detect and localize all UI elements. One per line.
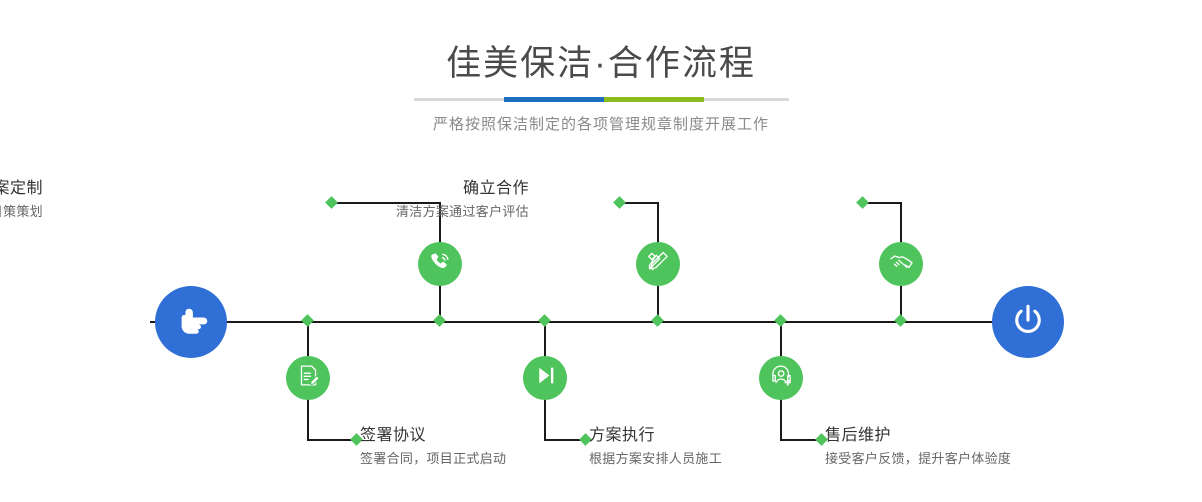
step-title: 确立合作: [396, 178, 529, 200]
headset-support-icon: [769, 363, 794, 393]
page-header: 佳美保洁·合作流程 严格按照保洁制定的各项管理规章制度开展工作: [0, 0, 1202, 134]
step-icon-circle[interactable]: [418, 242, 462, 286]
step-subtitle: 接受客户反馈，提升客户体验度: [825, 449, 1011, 469]
divider-green-segment: [604, 97, 704, 102]
handshake-icon: [889, 249, 914, 279]
timeline-diamond-marker: [433, 314, 446, 327]
flow-start-node: [155, 286, 227, 358]
timeline-diamond-marker: [301, 314, 314, 327]
step-label: 签署协议 签署合同，项目正式启动: [360, 425, 506, 469]
step-icon-circle[interactable]: [286, 356, 330, 400]
timeline-diamond-marker: [651, 314, 664, 327]
step-icon-circle[interactable]: [523, 356, 567, 400]
process-flow-diagram: 电话咨询 阐明基本情况和需求 签署协议 签署合同，项目正式启动: [0, 150, 1202, 502]
step-icon-circle[interactable]: [636, 242, 680, 286]
timeline-diamond-marker: [894, 314, 907, 327]
step-label: 确立合作 清洁方案通过客户评估: [396, 178, 529, 222]
label-diamond-marker: [856, 196, 869, 209]
label-diamond-marker: [325, 196, 338, 209]
step-subtitle: 为客户提供项目策策划: [0, 202, 43, 222]
step-icon-circle[interactable]: [879, 242, 923, 286]
connector-horizontal: [307, 439, 355, 441]
step-subtitle: 根据方案安排人员施工: [589, 449, 722, 469]
document-edit-icon: [296, 363, 321, 393]
timeline-diamond-marker: [538, 314, 551, 327]
flow-end-node: [992, 286, 1064, 358]
page-subtitle: 严格按照保洁制定的各项管理规章制度开展工作: [0, 113, 1202, 134]
step-label: 售后维护 接受客户反馈，提升客户体验度: [825, 425, 1011, 469]
page-title: 佳美保洁·合作流程: [0, 42, 1202, 86]
step-label: 方案执行 根据方案安排人员施工: [589, 425, 722, 469]
title-divider: [414, 98, 789, 101]
phone-ring-icon: [428, 249, 453, 279]
step-label: 方案定制 为客户提供项目策策划: [0, 178, 43, 222]
pointing-hand-icon: [171, 300, 211, 345]
step-title: 售后维护: [825, 425, 1011, 447]
step-subtitle: 签署合同，项目正式启动: [360, 449, 506, 469]
step-title: 方案定制: [0, 178, 43, 200]
pencil-ruler-icon: [646, 249, 671, 279]
timeline-axis: [150, 321, 1052, 323]
label-diamond-marker: [613, 196, 626, 209]
step-subtitle: 清洁方案通过客户评估: [396, 202, 529, 222]
timeline-diamond-marker: [774, 314, 787, 327]
step-title: 方案执行: [589, 425, 722, 447]
divider-blue-segment: [504, 97, 604, 102]
play-next-icon: [533, 363, 558, 393]
step-title: 签署协议: [360, 425, 506, 447]
step-icon-circle[interactable]: [759, 356, 803, 400]
power-icon: [1008, 300, 1048, 345]
